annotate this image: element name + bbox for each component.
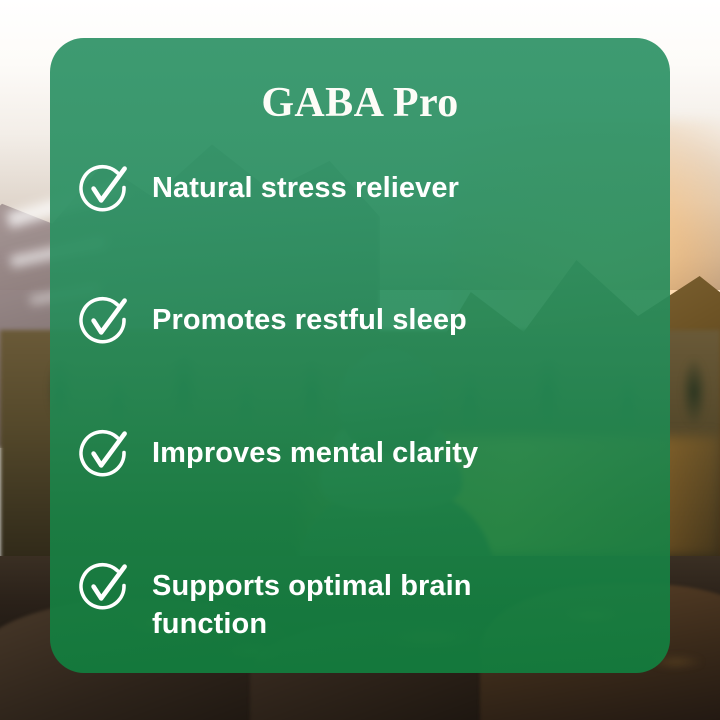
product-title: GABA Pro [50,82,670,124]
benefit-label: Promotes restful sleep [152,296,467,339]
benefit-label: Improves mental clarity [152,429,478,472]
check-circle-icon [76,160,132,216]
check-circle-icon [76,558,132,614]
benefit-item: Improves mental clarity [76,429,626,562]
benefit-item: Supports optimal brain function [76,562,626,673]
check-circle-icon [76,425,132,481]
check-circle-icon [76,292,132,348]
benefits-list: Natural stress reliever Promotes restful… [50,164,670,673]
benefit-label: Natural stress reliever [152,164,459,207]
promo-card-stage: GABA Pro Natural stress reliever [0,0,720,720]
benefit-item: Natural stress reliever [76,164,626,296]
benefit-label: Supports optimal brain function [152,562,512,644]
benefit-item: Promotes restful sleep [76,296,626,429]
benefits-card: GABA Pro Natural stress reliever [50,38,670,673]
